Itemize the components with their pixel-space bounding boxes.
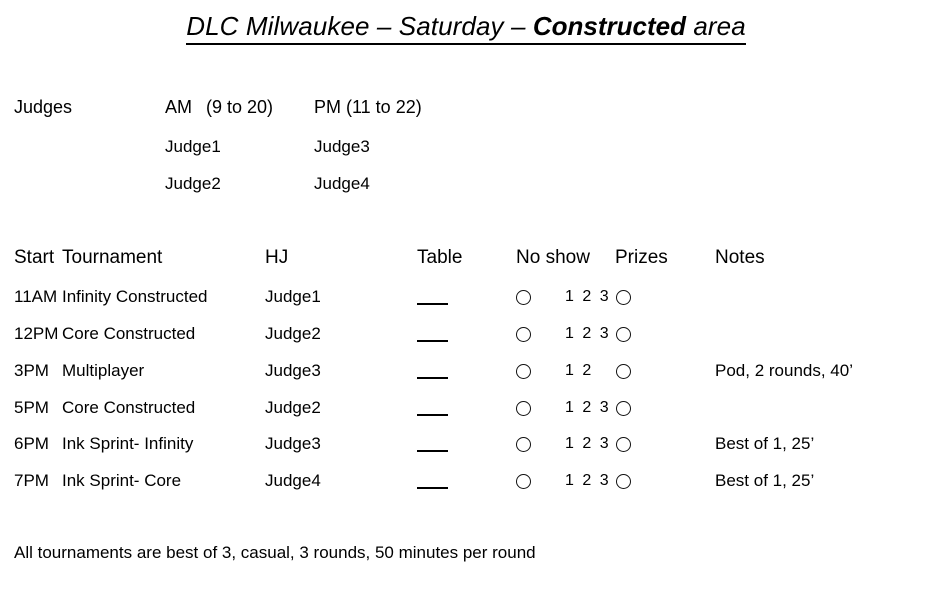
column-header-hj: HJ — [265, 247, 288, 269]
circle-icon — [516, 437, 531, 452]
row-table-blank[interactable] — [417, 377, 448, 379]
row-notes: Best of 1, 25’ — [715, 471, 814, 491]
circle-icon — [516, 474, 531, 489]
row-prizes-checkbox[interactable] — [616, 474, 631, 489]
row-tournament-name: Core Constructed — [62, 324, 195, 344]
row-no-show-checkbox[interactable] — [516, 401, 531, 416]
row-start-time: 11AM — [14, 287, 57, 307]
row-prize-places: 1 2 3 — [565, 325, 611, 343]
row-table-blank[interactable] — [417, 340, 448, 342]
circle-icon — [616, 437, 631, 452]
column-header-no-show: No show — [516, 247, 590, 269]
row-table-blank[interactable] — [417, 303, 448, 305]
row-prize-places: 1 2 3 — [565, 435, 611, 453]
row-head-judge: Judge4 — [265, 471, 321, 491]
column-header-start: Start — [14, 247, 54, 269]
row-head-judge: Judge2 — [265, 398, 321, 418]
table-row: 3PM Multiplayer Judge3 1 2 Pod, 2 rounds… — [0, 361, 932, 391]
row-head-judge: Judge3 — [265, 434, 321, 454]
table-row: 6PM Ink Sprint- Infinity Judge3 1 2 3 Be… — [0, 434, 932, 464]
row-no-show-checkbox[interactable] — [516, 290, 531, 305]
footer-note: All tournaments are best of 3, casual, 3… — [14, 543, 536, 563]
row-prize-places: 1 2 3 — [565, 399, 611, 417]
table-row: 11AM Infinity Constructed Judge1 1 2 3 — [0, 287, 932, 317]
row-start-time: 5PM — [14, 398, 49, 418]
row-prizes-checkbox[interactable] — [616, 364, 631, 379]
column-header-notes: Notes — [715, 247, 765, 269]
row-no-show-checkbox[interactable] — [516, 474, 531, 489]
row-prize-places: 1 2 3 — [565, 472, 611, 490]
table-row: 12PM Core Constructed Judge2 1 2 3 — [0, 324, 932, 354]
circle-icon — [616, 327, 631, 342]
row-no-show-checkbox[interactable] — [516, 364, 531, 379]
row-notes: Pod, 2 rounds, 40’ — [715, 361, 853, 381]
column-header-table: Table — [417, 247, 462, 269]
schedule-page: DLC Milwaukee – Saturday – Constructed a… — [0, 0, 932, 594]
row-start-time: 3PM — [14, 361, 49, 381]
row-notes: Best of 1, 25’ — [715, 434, 814, 454]
schedule-table: Start Tournament HJ Table No show Prizes… — [0, 0, 932, 594]
row-tournament-name: Core Constructed — [62, 398, 195, 418]
circle-icon — [616, 474, 631, 489]
row-no-show-checkbox[interactable] — [516, 437, 531, 452]
row-prizes-checkbox[interactable] — [616, 290, 631, 305]
row-start-time: 7PM — [14, 471, 49, 491]
row-tournament-name: Infinity Constructed — [62, 287, 208, 307]
row-table-blank[interactable] — [417, 487, 448, 489]
row-no-show-checkbox[interactable] — [516, 327, 531, 342]
circle-icon — [616, 364, 631, 379]
circle-icon — [616, 290, 631, 305]
circle-icon — [516, 364, 531, 379]
row-start-time: 6PM — [14, 434, 49, 454]
row-table-blank[interactable] — [417, 414, 448, 416]
row-table-blank[interactable] — [417, 450, 448, 452]
row-prize-places: 1 2 — [565, 362, 593, 380]
row-head-judge: Judge3 — [265, 361, 321, 381]
row-head-judge: Judge1 — [265, 287, 321, 307]
row-prizes-checkbox[interactable] — [616, 437, 631, 452]
row-tournament-name: Multiplayer — [62, 361, 144, 381]
row-prize-places: 1 2 3 — [565, 288, 611, 306]
table-row: 5PM Core Constructed Judge2 1 2 3 — [0, 398, 932, 428]
row-prizes-checkbox[interactable] — [616, 401, 631, 416]
column-header-prizes: Prizes — [615, 247, 668, 269]
row-tournament-name: Ink Sprint- Core — [62, 471, 181, 491]
row-prizes-checkbox[interactable] — [616, 327, 631, 342]
row-start-time: 12PM — [14, 324, 58, 344]
row-tournament-name: Ink Sprint- Infinity — [62, 434, 193, 454]
row-head-judge: Judge2 — [265, 324, 321, 344]
circle-icon — [516, 401, 531, 416]
circle-icon — [616, 401, 631, 416]
table-row: 7PM Ink Sprint- Core Judge4 1 2 3 Best o… — [0, 471, 932, 501]
column-header-tournament: Tournament — [62, 247, 162, 269]
circle-icon — [516, 327, 531, 342]
circle-icon — [516, 290, 531, 305]
